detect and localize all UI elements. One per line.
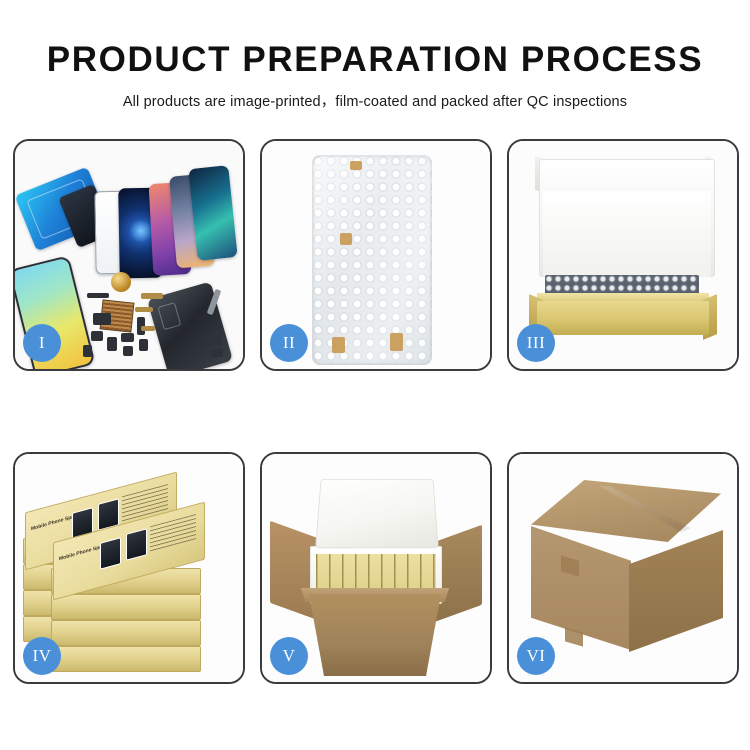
small-part: [139, 339, 148, 351]
stacked-box: [51, 594, 201, 620]
tape-strip: [390, 333, 403, 351]
tape-strip: [340, 233, 352, 245]
panel-sealed-shipping-carton[interactable]: Sealed brown corrugated shipping carton …: [507, 452, 739, 684]
panel-badge-2: II: [270, 324, 308, 362]
panel-open-kraft-box[interactable]: Open yellow kraft box with white foam li…: [507, 139, 739, 371]
panel-carton-with-foam[interactable]: Shipping carton with white foam box hold…: [260, 452, 492, 684]
box-product-thumb: [100, 537, 121, 570]
small-part: [107, 337, 117, 351]
page-title: PRODUCT PREPARATION PROCESS: [0, 0, 750, 79]
small-part: [91, 331, 103, 341]
stacked-box: [51, 620, 201, 646]
tape-strip: [350, 161, 362, 170]
carton-body: [300, 594, 450, 676]
box-spec-lines: [150, 514, 196, 552]
panel-badge-3: III: [517, 324, 555, 362]
panel-badge-6: VI: [517, 637, 555, 675]
panel-badge-1: I: [23, 324, 61, 362]
small-part: [93, 313, 111, 325]
gold-flex-cable: [135, 307, 153, 312]
gold-flex-cable: [141, 293, 163, 299]
panel-badge-4: IV: [23, 637, 61, 675]
product-preparation-infographic: PRODUCT PREPARATION PROCESS All products…: [0, 0, 750, 750]
gold-speaker-part: [111, 272, 131, 292]
stacked-box: [51, 646, 201, 672]
small-part: [211, 349, 223, 357]
small-part: [121, 333, 134, 342]
small-part: [205, 337, 221, 345]
small-part: [87, 293, 109, 298]
foam-sheet: [543, 191, 711, 277]
box-product-thumb: [126, 528, 147, 561]
panel-badge-5: V: [270, 637, 308, 675]
tape-strip: [332, 337, 345, 353]
panel-parts-overview[interactable]: Phone screens, tempered glass films and …: [13, 139, 245, 371]
panel-stacked-retail-boxes[interactable]: Mobile Phone Spare Parts Mobile Phone Sp…: [13, 452, 245, 684]
panel-bubble-wrapped-part[interactable]: Single part sealed in a bubble wrap bag …: [260, 139, 492, 371]
foam-box-lid: [315, 479, 439, 548]
plastic-sheen: [314, 157, 430, 363]
small-part: [83, 345, 92, 357]
phone-screen-teal: [188, 165, 237, 261]
header: PRODUCT PREPARATION PROCESS All products…: [0, 0, 750, 111]
panel-caption: Phone screens, tempered glass films and …: [15, 141, 16, 142]
panel-grid: Phone screens, tempered glass films and …: [13, 139, 739, 684]
page-subtitle: All products are image-printed，film-coat…: [0, 79, 750, 111]
box-front-panel: [537, 301, 709, 335]
small-part: [123, 346, 133, 356]
gold-flex-cable: [141, 326, 155, 331]
